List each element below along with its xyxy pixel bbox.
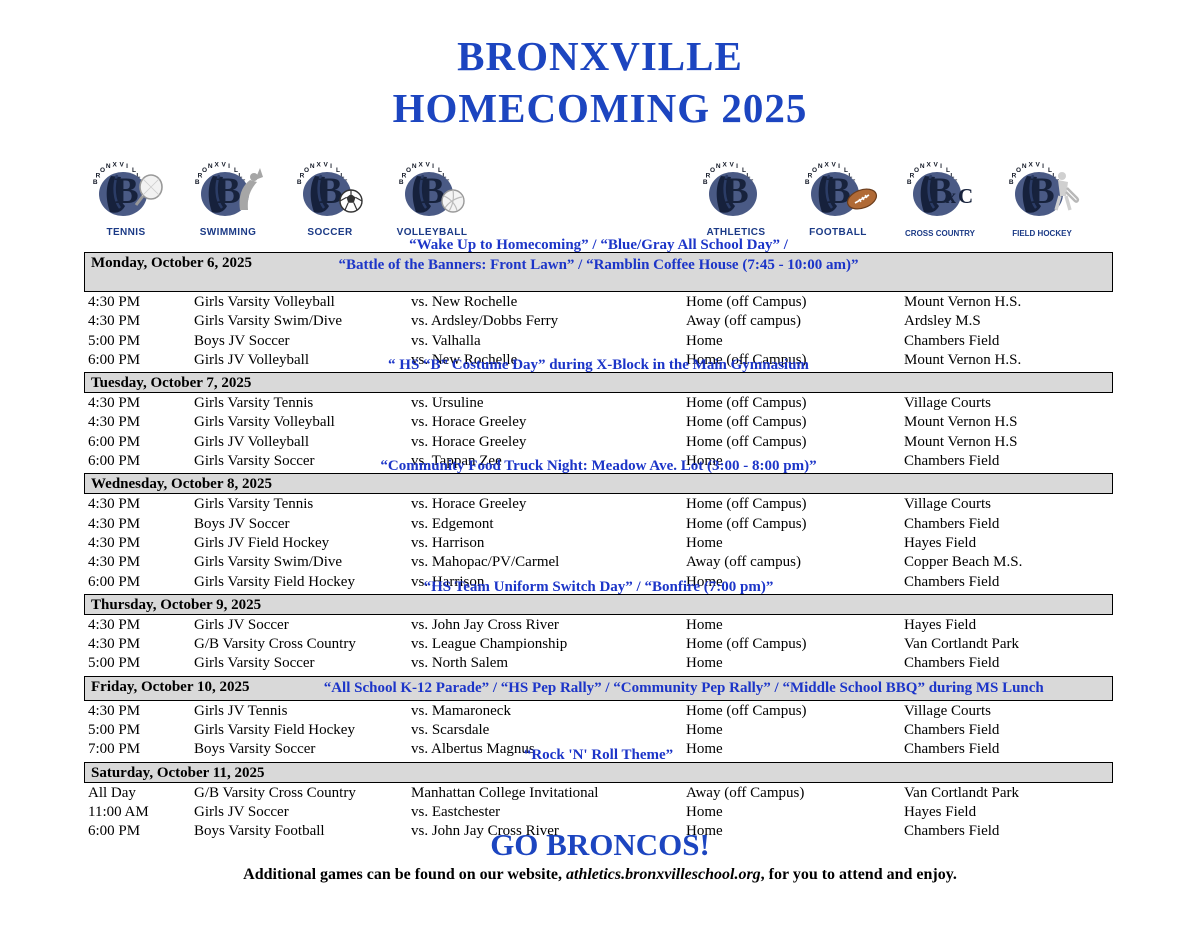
game-home-away: Away (off campus) <box>686 553 801 572</box>
game-home-away: Home (off Campus) <box>686 635 807 654</box>
game-opponent: Manhattan College Invitational <box>411 784 598 803</box>
team-logo-row: BRONXVILLEBTENNISBRONXVILLEBSWIMMINGBRON… <box>0 160 1200 242</box>
footer-note-before: Additional games can be found on our web… <box>243 866 566 883</box>
game-team: Girls JV Tennis <box>194 702 287 721</box>
game-site: Mount Vernon H.S <box>904 433 1017 452</box>
day-event-text: “ HS “B” Costume Day” during X-Block in … <box>91 355 1106 375</box>
day-date: Tuesday, October 7, 2025 <box>91 374 251 393</box>
table-row: All DayG/B Varsity Cross CountryManhatta… <box>84 784 1113 803</box>
game-home-away: Home (off Campus) <box>686 515 807 534</box>
game-opponent: vs. Ardsley/Dobbs Ferry <box>411 312 558 331</box>
game-site: Copper Beach M.S. <box>904 553 1022 572</box>
day-date: Monday, October 6, 2025 <box>91 254 252 273</box>
logo-tennis: BRONXVILLEBTENNIS <box>84 160 168 240</box>
day-header: Wednesday, October 8, 2025“Community Foo… <box>84 473 1113 494</box>
game-team: Girls Varsity Volleyball <box>194 413 335 432</box>
game-home-away: Home (off Campus) <box>686 702 807 721</box>
table-row: 4:30 PMGirls Varsity Swim/Divevs. Ardsle… <box>84 312 1113 331</box>
game-opponent: vs. Scarsdale <box>411 721 489 740</box>
day-header: Tuesday, October 7, 2025“ HS “B” Costume… <box>84 372 1113 393</box>
game-time: 4:30 PM <box>88 534 140 553</box>
game-home-away: Away (off Campus) <box>686 784 804 803</box>
day-group: Monday, October 6, 2025“Wake Up to Homec… <box>84 252 1113 370</box>
day-header: Saturday, October 11, 2025“Rock 'N' Roll… <box>84 762 1113 783</box>
logo-group-right: BRONXVILLEBATHLETICSBRONXVILLEBFOOTBALLB… <box>694 160 1084 240</box>
game-team: Boys JV Soccer <box>194 515 290 534</box>
homecoming-schedule-page: BRONXVILLE HOMECOMING 2025 BRONXVILLEBTE… <box>0 0 1200 927</box>
day-header: Thursday, October 9, 2025“HS Team Unifor… <box>84 594 1113 615</box>
game-home-away: Home <box>686 332 723 351</box>
game-opponent: vs. Valhalla <box>411 332 481 351</box>
game-time: 4:30 PM <box>88 394 140 413</box>
logo-field-hockey: BRONXVILLEBFIELD HOCKEY <box>1000 160 1084 240</box>
game-site: Hayes Field <box>904 534 976 553</box>
table-row: 4:30 PMBoys JV Soccervs. EdgemontHome (o… <box>84 515 1113 534</box>
game-site: Mount Vernon H.S. <box>904 293 1021 312</box>
day-event-wrap: “Community Food Truck Night: Meadow Ave.… <box>91 456 1106 476</box>
game-opponent: vs. Mahopac/PV/Carmel <box>411 553 559 572</box>
game-site: Hayes Field <box>904 803 976 822</box>
game-site: Mount Vernon H.S <box>904 413 1017 432</box>
game-rows: 4:30 PMGirls JV Soccervs. John Jay Cross… <box>84 615 1113 674</box>
game-home-away: Home <box>686 654 723 673</box>
game-time: 5:00 PM <box>88 654 140 673</box>
table-row: 5:00 PMBoys JV Soccervs. ValhallaHomeCha… <box>84 332 1113 351</box>
game-opponent: vs. North Salem <box>411 654 508 673</box>
table-row: 4:30 PMGirls Varsity Volleyballvs. New R… <box>84 293 1113 312</box>
page-title: BRONXVILLE HOMECOMING 2025 <box>0 34 1200 132</box>
day-event-text: “Wake Up to Homecoming” / “Blue/Gray All… <box>91 235 1106 255</box>
game-time: 4:30 PM <box>88 495 140 514</box>
day-date: Friday, October 10, 2025 <box>91 678 249 697</box>
game-time: 5:00 PM <box>88 721 140 740</box>
schedule-table: Monday, October 6, 2025“Wake Up to Homec… <box>84 252 1113 844</box>
logo-letter-b: B <box>724 173 749 210</box>
logo-athletics: BRONXVILLEBATHLETICS <box>694 160 778 240</box>
day-date: Thursday, October 9, 2025 <box>91 596 261 615</box>
table-row: 4:30 PMGirls Varsity Volleyballvs. Horac… <box>84 413 1113 432</box>
go-broncos-cheer: GO BRONCOS! <box>0 827 1200 863</box>
game-opponent: vs. Ursuline <box>411 394 484 413</box>
game-team: Girls Varsity Tennis <box>194 394 313 413</box>
game-site: Chambers Field <box>904 654 999 673</box>
game-team: Girls JV Volleyball <box>194 433 309 452</box>
table-row: 4:30 PMGirls Varsity Swim/Divevs. Mahopa… <box>84 553 1113 572</box>
game-opponent: vs. League Championship <box>411 635 567 654</box>
game-time: All Day <box>88 784 136 803</box>
day-event-text: “HS Team Uniform Switch Day” / “Bonfire … <box>91 577 1106 597</box>
game-time: 4:30 PM <box>88 312 140 331</box>
table-row: 5:00 PMGirls Varsity Soccervs. North Sal… <box>84 654 1113 673</box>
day-date: Saturday, October 11, 2025 <box>91 764 264 783</box>
game-home-away: Home (off Campus) <box>686 394 807 413</box>
footer-note: Additional games can be found on our web… <box>0 866 1200 884</box>
game-site: Van Cortlandt Park <box>904 635 1019 654</box>
day-group: Thursday, October 9, 2025“HS Team Unifor… <box>84 594 1113 674</box>
game-time: 4:30 PM <box>88 413 140 432</box>
day-event-wrap: “Rock 'N' Roll Theme” <box>91 745 1106 765</box>
day-event-text: “Rock 'N' Roll Theme” <box>91 745 1106 765</box>
game-site: Chambers Field <box>904 721 999 740</box>
game-site: Van Cortlandt Park <box>904 784 1019 803</box>
table-row: 4:30 PMGirls Varsity Tennisvs. Horace Gr… <box>84 495 1113 514</box>
day-event-wrap: “HS Team Uniform Switch Day” / “Bonfire … <box>91 577 1106 597</box>
title-line-1: BRONXVILLE <box>0 34 1200 80</box>
footer-note-url: athletics.bronxvilleschool.org <box>566 866 761 883</box>
game-opponent: vs. Edgemont <box>411 515 494 534</box>
game-team: Girls Varsity Swim/Dive <box>194 312 342 331</box>
game-opponent: vs. Horace Greeley <box>411 413 526 432</box>
game-home-away: Home <box>686 616 723 635</box>
game-time: 6:00 PM <box>88 433 140 452</box>
game-home-away: Home (off Campus) <box>686 293 807 312</box>
table-row: 4:30 PMGirls Varsity Tennisvs. UrsulineH… <box>84 394 1113 413</box>
table-row: 6:00 PMGirls JV Volleyballvs. Horace Gre… <box>84 433 1113 452</box>
day-event-text: “Community Food Truck Night: Meadow Ave.… <box>91 456 1106 476</box>
logo-cross-country: BRONXVILLEBxCCROSS COUNTRY <box>898 160 982 240</box>
game-team: Girls Varsity Volleyball <box>194 293 335 312</box>
logo-swimming: BRONXVILLEBSWIMMING <box>186 160 270 240</box>
game-team: Girls Varsity Field Hockey <box>194 721 355 740</box>
game-home-away: Home <box>686 721 723 740</box>
game-team: Girls JV Soccer <box>194 803 289 822</box>
game-site: Village Courts <box>904 495 991 514</box>
day-group: Wednesday, October 8, 2025“Community Foo… <box>84 473 1113 591</box>
game-opponent: vs. Horace Greeley <box>411 495 526 514</box>
game-home-away: Home (off Campus) <box>686 413 807 432</box>
table-row: 4:30 PMGirls JV Field Hockeyvs. Harrison… <box>84 534 1113 553</box>
game-opponent: vs. Eastchester <box>411 803 500 822</box>
game-site: Hayes Field <box>904 616 976 635</box>
game-team: Girls Varsity Soccer <box>194 654 315 673</box>
game-team: Boys JV Soccer <box>194 332 290 351</box>
game-home-away: Away (off campus) <box>686 312 801 331</box>
logo-soccer: BRONXVILLEBSOCCER <box>288 160 372 240</box>
game-team: Girls Varsity Tennis <box>194 495 313 514</box>
day-date: Wednesday, October 8, 2025 <box>91 475 272 494</box>
day-header: Monday, October 6, 2025“Wake Up to Homec… <box>84 252 1113 292</box>
game-opponent: vs. Mamaroneck <box>411 702 511 721</box>
day-event-text: “All School K-12 Parade” / “HS Pep Rally… <box>261 678 1106 698</box>
game-site: Chambers Field <box>904 515 999 534</box>
game-opponent: vs. New Rochelle <box>411 293 517 312</box>
game-time: 5:00 PM <box>88 332 140 351</box>
game-team: G/B Varsity Cross Country <box>194 784 356 803</box>
game-time: 4:30 PM <box>88 515 140 534</box>
game-time: 4:30 PM <box>88 635 140 654</box>
game-opponent: vs. Harrison <box>411 534 484 553</box>
game-time: 11:00 AM <box>88 803 149 822</box>
game-team: Girls JV Field Hockey <box>194 534 329 553</box>
day-event-wrap: “ HS “B” Costume Day” during X-Block in … <box>91 355 1106 375</box>
game-team: Girls Varsity Swim/Dive <box>194 553 342 572</box>
game-time: 4:30 PM <box>88 616 140 635</box>
game-team: G/B Varsity Cross Country <box>194 635 356 654</box>
game-team: Girls JV Soccer <box>194 616 289 635</box>
game-home-away: Home (off Campus) <box>686 495 807 514</box>
game-time: 4:30 PM <box>88 553 140 572</box>
game-time: 4:30 PM <box>88 293 140 312</box>
game-home-away: Home <box>686 803 723 822</box>
svg-text:C: C <box>958 184 973 208</box>
logo-group-left: BRONXVILLEBTENNISBRONXVILLEBSWIMMINGBRON… <box>84 160 474 240</box>
footer-note-after: , for you to attend and enjoy. <box>761 866 957 883</box>
game-home-away: Home <box>686 534 723 553</box>
logo-football: BRONXVILLEBFOOTBALL <box>796 160 880 240</box>
game-site: Ardsley M.S <box>904 312 981 331</box>
table-row: 4:30 PMGirls JV Tennisvs. MamaroneckHome… <box>84 702 1113 721</box>
table-row: 4:30 PMGirls JV Soccervs. John Jay Cross… <box>84 616 1113 635</box>
game-opponent: vs. John Jay Cross River <box>411 616 559 635</box>
title-line-2: HOMECOMING 2025 <box>0 86 1200 132</box>
logo-volleyball: BRONXVILLEBVOLLEYBALL <box>390 160 474 240</box>
table-row: 5:00 PMGirls Varsity Field Hockeyvs. Sca… <box>84 721 1113 740</box>
day-header: Friday, October 10, 2025“All School K-12… <box>84 676 1113 701</box>
game-opponent: vs. Horace Greeley <box>411 433 526 452</box>
table-row: 11:00 AMGirls JV Soccervs. EastchesterHo… <box>84 803 1113 822</box>
game-site: Chambers Field <box>904 332 999 351</box>
game-site: Village Courts <box>904 394 991 413</box>
table-row: 4:30 PMG/B Varsity Cross Countryvs. Leag… <box>84 635 1113 654</box>
game-site: Village Courts <box>904 702 991 721</box>
game-time: 4:30 PM <box>88 702 140 721</box>
svg-text:x: x <box>946 186 956 208</box>
game-home-away: Home (off Campus) <box>686 433 807 452</box>
